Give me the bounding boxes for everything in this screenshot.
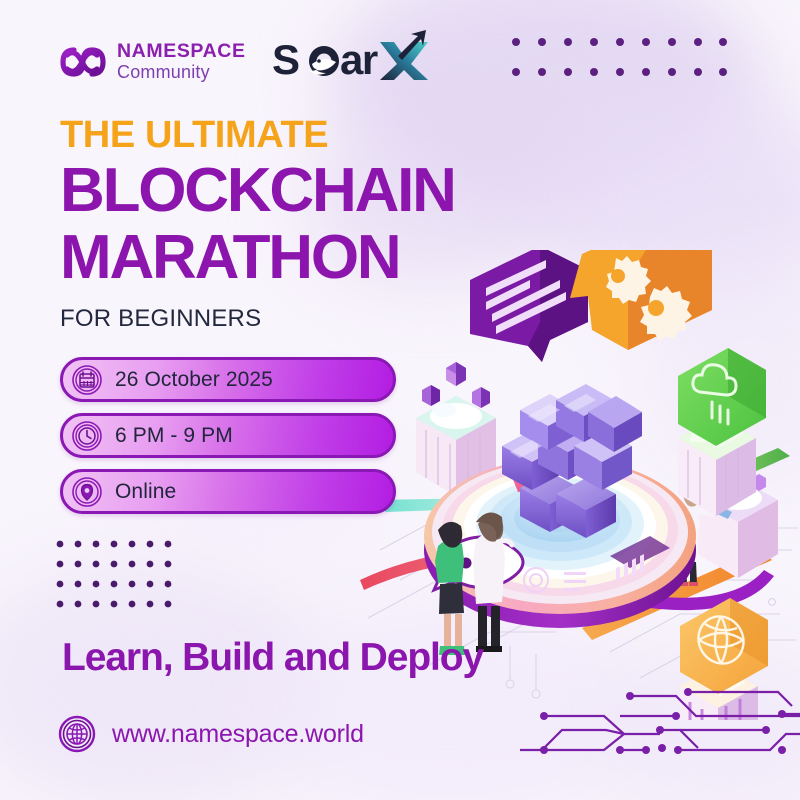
namespace-logo[interactable]: NAMESPACE Community [58, 41, 246, 83]
event-location-label: Online [115, 480, 176, 504]
green-cloud-kiosk [678, 348, 766, 516]
location-pin-icon [72, 477, 102, 507]
event-detail-location[interactable]: Online [60, 469, 396, 514]
globe-icon [58, 715, 96, 753]
event-detail-date[interactable]: 26 October 2025 [60, 357, 396, 402]
svg-text:ar: ar [340, 36, 378, 83]
namespace-logo-subtitle: Community [117, 63, 246, 81]
circuit-trace-decoration [520, 672, 800, 792]
svg-text:S: S [272, 36, 299, 83]
website-label: www.namespace.world [112, 720, 364, 749]
namespace-logo-name: NAMESPACE [117, 42, 246, 62]
dot-grid-top-right [512, 38, 727, 82]
soarx-logo[interactable]: S ar [272, 30, 432, 93]
headline-line-1: BLOCKCHAIN [60, 161, 455, 222]
event-date-label: 26 October 2025 [115, 368, 273, 392]
orange-gears-bubble [570, 250, 712, 350]
infinity-loop-logo-icon [58, 41, 106, 83]
tagline: Learn, Build and Deploy [62, 636, 483, 680]
event-time-label: 6 PM - 9 PM [115, 424, 233, 448]
eagle-arrow-logo-icon: S ar [272, 30, 432, 88]
background-wash [0, 560, 320, 800]
event-details-list: 26 October 2025 6 PM - 9 PM Online [60, 357, 396, 514]
dot-grid-left [56, 540, 176, 616]
poster-canvas: NAMESPACE Community S ar [0, 0, 800, 800]
clock-icon [72, 421, 102, 451]
website-block[interactable]: www.namespace.world [58, 715, 364, 753]
headline-line-2: MARATHON [60, 228, 455, 289]
headline-kicker: THE ULTIMATE [60, 116, 455, 155]
purple-chat-bubble [470, 250, 588, 362]
header-logos: NAMESPACE Community S ar [58, 30, 432, 93]
event-detail-time[interactable]: 6 PM - 9 PM [60, 413, 396, 458]
headline-subtitle: FOR BEGINNERS [60, 305, 455, 333]
headline-block: THE ULTIMATE BLOCKCHAIN MARATHON FOR BEG… [60, 116, 455, 333]
calendar-icon [72, 365, 102, 395]
